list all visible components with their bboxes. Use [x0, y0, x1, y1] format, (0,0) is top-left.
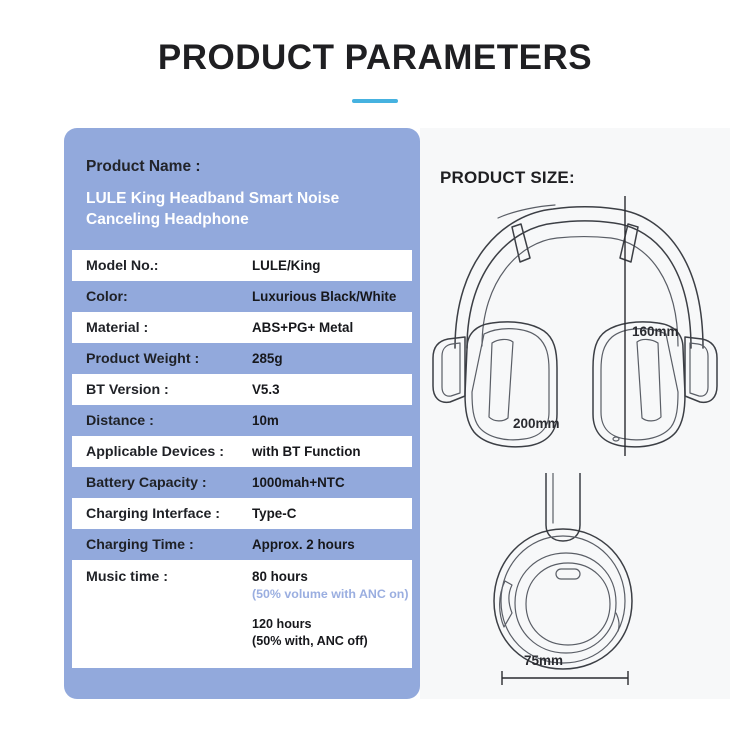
product-size-title: PRODUCT SIZE:: [440, 168, 575, 188]
spec-key: Applicable Devices :: [86, 443, 252, 461]
spec-key: Battery Capacity :: [86, 474, 252, 492]
table-row: Color: Luxurious Black/White: [72, 281, 412, 312]
spec-value: Approx. 2 hours: [252, 536, 412, 554]
dimension-label-height: 160mm: [632, 324, 679, 339]
product-name-value: LULE King Headband Smart Noise Canceling…: [86, 188, 398, 230]
spec-key: BT Version :: [86, 381, 252, 399]
product-name-block: Product Name : LULE King Headband Smart …: [64, 128, 420, 250]
music-time-anc-on-hours: 80 hours: [252, 569, 308, 584]
spec-key: Music time :: [86, 568, 252, 586]
spec-key: Color:: [86, 288, 252, 306]
table-row: Charging Time : Approx. 2 hours: [72, 529, 412, 560]
spec-value: ABS+PG+ Metal: [252, 319, 412, 337]
spec-value: 10m: [252, 412, 412, 430]
spec-key: Product Weight :: [86, 350, 252, 368]
spec-key: Distance :: [86, 412, 252, 430]
table-row-music-time: Music time : 80 hours (50% volume with A…: [72, 560, 412, 668]
table-row: Distance : 10m: [72, 405, 412, 436]
spec-value: V5.3: [252, 381, 412, 399]
spec-key: Charging Time :: [86, 536, 252, 554]
spec-key: Charging Interface :: [86, 505, 252, 523]
spec-value: 1000mah+NTC: [252, 474, 412, 492]
music-time-anc-off-note: (50% with, ANC off): [252, 633, 412, 650]
table-row: Applicable Devices : with BT Function: [72, 436, 412, 467]
specification-rows: Model No.: LULE/King Color: Luxurious Bl…: [64, 250, 420, 678]
spec-value: 285g: [252, 350, 412, 368]
table-row: Product Weight : 285g: [72, 343, 412, 374]
table-row: Model No.: LULE/King: [72, 250, 412, 281]
product-parameters-infographic: PRODUCT PARAMETERS Product Name : LULE K…: [0, 0, 750, 750]
table-row: Material : ABS+PG+ Metal: [72, 312, 412, 343]
dimension-label-depth: 75mm: [524, 653, 563, 668]
dimension-label-width: 200mm: [513, 416, 560, 431]
title-accent-bar: [352, 99, 398, 103]
music-time-anc-on-note: (50% volume with ANC on): [252, 586, 412, 603]
spec-value: Type-C: [252, 505, 412, 523]
spec-value: with BT Function: [252, 443, 412, 461]
product-size-panel: PRODUCT SIZE:: [420, 128, 730, 699]
product-name-label: Product Name :: [86, 156, 398, 178]
spec-key: Material :: [86, 319, 252, 337]
spec-value-music-time: 80 hours (50% volume with ANC on) 120 ho…: [252, 568, 412, 650]
headphone-side-view-diagram: [420, 473, 730, 693]
spec-key: Model No.:: [86, 257, 252, 275]
spec-value: Luxurious Black/White: [252, 288, 412, 306]
table-row: Battery Capacity : 1000mah+NTC: [72, 467, 412, 498]
table-row: Charging Interface : Type-C: [72, 498, 412, 529]
music-time-anc-off-hours: 120 hours: [252, 616, 412, 633]
spacer: [252, 603, 412, 616]
table-row: BT Version : V5.3: [72, 374, 412, 405]
specification-card: Product Name : LULE King Headband Smart …: [64, 128, 420, 699]
headphone-front-view-diagram: [420, 196, 730, 456]
spec-value: LULE/King: [252, 257, 412, 275]
title-block: PRODUCT PARAMETERS: [0, 36, 750, 103]
page-title: PRODUCT PARAMETERS: [0, 36, 750, 80]
